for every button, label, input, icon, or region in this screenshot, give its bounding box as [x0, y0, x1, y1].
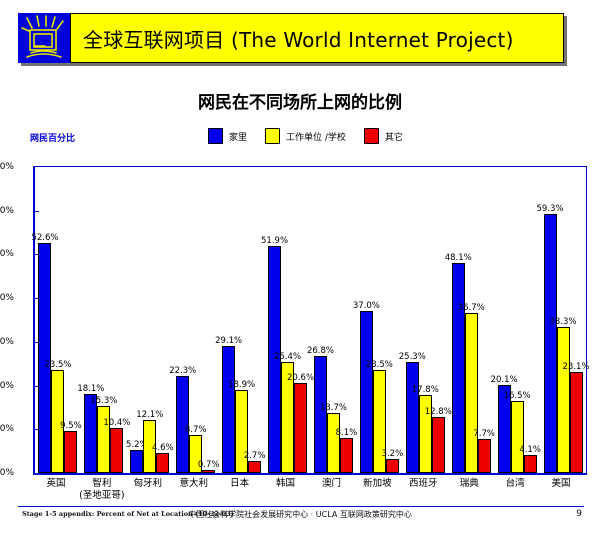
- chart-plot-wrapper: 70%60%50%40%30%20%10%0% 52.6%23.5%9.5%18…: [0, 160, 600, 480]
- bar-value-label-1-2: 10.4%: [103, 418, 130, 428]
- bar-value-label-3-2: 0.7%: [198, 460, 220, 470]
- x-axis-label-3: 意大利: [179, 478, 208, 490]
- legend-swatch-0: [208, 128, 223, 144]
- x-axis-label-8: 西班牙: [409, 478, 438, 490]
- bar-value-label-9-0: 48.1%: [445, 253, 472, 263]
- bars-layer: 52.6%23.5%9.5%18.1%15.3%10.4%5.2%12.1%4.…: [35, 167, 586, 473]
- banner-title: 全球互联网项目 (The World Internet Project): [83, 24, 514, 53]
- x-axis-label-4: 日本: [230, 478, 249, 490]
- y-tick-label-50: 50%: [0, 249, 14, 259]
- x-axis-label-main-6: 澳门: [322, 478, 341, 489]
- bar-value-label-7-0: 37.0%: [353, 301, 380, 311]
- y-tick-label-0: 0%: [0, 468, 14, 478]
- bar-value-label-8-1: 17.8%: [412, 385, 439, 395]
- bar-group-7: 37.0%23.5%3.2%: [360, 167, 399, 473]
- bar-7-0: 37.0%: [360, 311, 373, 473]
- monitor-rays-icon: [18, 13, 70, 63]
- y-tick-label-10: 10%: [0, 424, 14, 434]
- bar-6-1: 13.7%: [327, 413, 340, 473]
- y-tick-label-30: 30%: [0, 337, 14, 347]
- bar-value-label-11-0: 59.3%: [537, 204, 564, 214]
- bar-value-label-5-2: 20.6%: [287, 373, 314, 383]
- legend-swatch-1: [265, 128, 280, 144]
- bar-value-label-1-1: 15.3%: [90, 396, 117, 406]
- bar-9-2: 7.7%: [478, 439, 491, 473]
- x-axis-label-5: 韩国: [276, 478, 295, 490]
- bar-group-6: 26.8%13.7%8.1%: [314, 167, 353, 473]
- bar-group-5: 51.9%25.4%20.6%: [268, 167, 307, 473]
- footer-page-number: 9: [576, 509, 582, 519]
- bar-group-2: 5.2%12.1%4.6%: [130, 167, 169, 473]
- x-axis-label-11: 美国: [552, 478, 571, 490]
- bar-value-label-0-2: 9.5%: [60, 421, 82, 431]
- legend-label-1: 工作单位 /学校: [286, 130, 346, 143]
- bar-value-label-8-0: 25.3%: [399, 352, 426, 362]
- bar-group-4: 29.1%18.9%2.7%: [222, 167, 261, 473]
- legend-swatch-2: [364, 128, 379, 144]
- bar-0-2: 9.5%: [64, 431, 77, 473]
- legend-item-2: 其它: [364, 128, 403, 144]
- bar-value-label-1-0: 18.1%: [77, 384, 104, 394]
- bar-value-label-5-0: 51.9%: [261, 236, 288, 246]
- bar-0-0: 52.6%: [38, 243, 51, 473]
- bar-6-2: 8.1%: [340, 438, 353, 473]
- chart-plot-area: 70%60%50%40%30%20%10%0% 52.6%23.5%9.5%18…: [33, 166, 587, 475]
- bar-10-1: 16.5%: [511, 401, 524, 473]
- bar-value-label-6-2: 8.1%: [336, 428, 358, 438]
- x-axis-label-9: 瑞典: [460, 478, 479, 490]
- x-axis-label-main-1: 智利: [92, 478, 111, 489]
- banner-title-container: 全球互联网项目 (The World Internet Project): [71, 13, 564, 63]
- bar-10-2: 4.1%: [524, 455, 537, 473]
- footer-center-text: 中国社会科学院社会发展研究中心 · UCLA 互联网政策研究中心: [0, 509, 600, 520]
- x-axis-label-main-9: 瑞典: [460, 478, 479, 489]
- bar-2-2: 4.6%: [156, 453, 169, 473]
- y-tick-label-20: 20%: [0, 381, 14, 391]
- chart-title: 网民在不同场所上网的比例: [0, 88, 600, 113]
- bar-value-label-11-1: 33.3%: [550, 317, 577, 327]
- bar-value-label-6-1: 13.7%: [320, 403, 347, 413]
- bar-4-0: 29.1%: [222, 346, 235, 473]
- bar-value-label-11-2: 23.1%: [563, 362, 590, 372]
- bar-1-2: 10.4%: [110, 428, 123, 473]
- bar-value-label-9-1: 36.7%: [458, 303, 485, 313]
- bar-5-2: 20.6%: [294, 383, 307, 473]
- bar-value-label-3-1: 8.7%: [185, 425, 207, 435]
- bar-value-label-4-2: 2.7%: [244, 451, 266, 461]
- x-axis-label-main-2: 匈牙利: [134, 478, 163, 489]
- bar-11-0: 59.3%: [544, 214, 557, 473]
- bar-8-2: 12.8%: [432, 417, 445, 473]
- bar-9-0: 48.1%: [452, 263, 465, 473]
- bar-11-1: 33.3%: [557, 327, 570, 473]
- bar-group-0: 52.6%23.5%9.5%: [38, 167, 77, 473]
- x-axis-label-sub-1: (圣地亚哥): [79, 490, 124, 502]
- bar-value-label-5-1: 25.4%: [274, 352, 301, 362]
- footer-divider: [18, 506, 584, 507]
- x-axis-label-main-8: 西班牙: [409, 478, 438, 489]
- chart-legend: 家里工作单位 /学校其它: [208, 128, 421, 144]
- x-axis-label-6: 澳门: [322, 478, 341, 490]
- y-axis-caption: 网民百分比: [30, 131, 75, 144]
- legend-label-2: 其它: [385, 130, 403, 143]
- bar-value-label-7-2: 3.2%: [382, 449, 404, 459]
- y-tick-label-40: 40%: [0, 293, 14, 303]
- bar-11-2: 23.1%: [570, 372, 583, 473]
- bar-value-label-4-1: 18.9%: [228, 380, 255, 390]
- bar-value-label-10-0: 20.1%: [491, 375, 518, 385]
- bar-group-1: 18.1%15.3%10.4%: [84, 167, 123, 473]
- x-axis-label-main-10: 台湾: [506, 478, 525, 489]
- x-axis-label-1: 智利(圣地亚哥): [79, 478, 124, 502]
- legend-item-1: 工作单位 /学校: [265, 128, 346, 144]
- x-axis-label-10: 台湾: [506, 478, 525, 490]
- bar-value-label-4-0: 29.1%: [215, 336, 242, 346]
- bar-2-0: 5.2%: [130, 450, 143, 473]
- bar-7-2: 3.2%: [386, 459, 399, 473]
- legend-label-0: 家里: [229, 130, 247, 143]
- bar-value-label-2-2: 4.6%: [152, 443, 174, 453]
- bar-9-1: 36.7%: [465, 313, 478, 473]
- bar-value-label-9-2: 7.7%: [473, 429, 495, 439]
- y-tick-label-60: 60%: [0, 206, 14, 216]
- bar-group-10: 20.1%16.5%4.1%: [498, 167, 537, 473]
- x-axis-label-2: 匈牙利: [134, 478, 163, 490]
- bar-value-label-0-0: 52.6%: [31, 233, 58, 243]
- bar-value-label-8-2: 12.8%: [425, 407, 452, 417]
- bar-value-label-7-1: 23.5%: [366, 360, 393, 370]
- bar-group-3: 22.3%8.7%0.7%: [176, 167, 215, 473]
- world-internet-project-logo: [18, 13, 71, 63]
- x-axis-label-main-11: 美国: [552, 478, 571, 489]
- x-axis-label-main-4: 日本: [230, 478, 249, 489]
- x-axis-label-main-3: 意大利: [179, 478, 208, 489]
- bar-value-label-2-1: 12.1%: [136, 410, 163, 420]
- bar-value-label-6-0: 26.8%: [307, 346, 334, 356]
- bar-value-label-3-0: 22.3%: [169, 366, 196, 376]
- header-banner: 全球互联网项目 (The World Internet Project): [18, 13, 564, 63]
- bar-4-2: 2.7%: [248, 461, 261, 473]
- bar-8-0: 25.3%: [406, 362, 419, 473]
- bar-value-label-0-1: 23.5%: [44, 360, 71, 370]
- x-axis-label-main-7: 新加坡: [363, 478, 392, 489]
- bar-value-label-10-1: 16.5%: [504, 391, 531, 401]
- x-axis-label-main-5: 韩国: [276, 478, 295, 489]
- x-axis-label-7: 新加坡: [363, 478, 392, 490]
- legend-item-0: 家里: [208, 128, 247, 144]
- bar-group-8: 25.3%17.8%12.8%: [406, 167, 445, 473]
- x-axis-label-0: 英国: [46, 478, 65, 490]
- y-tick-label-70: 70%: [0, 162, 14, 172]
- bar-group-9: 48.1%36.7%7.7%: [452, 167, 491, 473]
- bar-3-2: 0.7%: [202, 470, 215, 473]
- bar-1-1: 15.3%: [97, 406, 110, 473]
- bar-group-11: 59.3%33.3%23.1%: [544, 167, 583, 473]
- bar-value-label-10-2: 4.1%: [519, 445, 541, 455]
- bar-6-0: 26.8%: [314, 356, 327, 473]
- x-axis-label-main-0: 英国: [46, 478, 65, 489]
